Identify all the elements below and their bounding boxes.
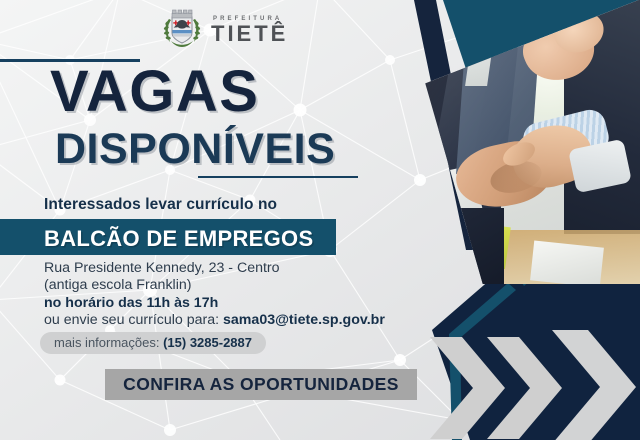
content-column: VAGAS DISPONÍVEIS Interessados levar cur…	[0, 0, 470, 440]
coat-of-arms-icon	[160, 8, 204, 52]
headline-disponiveis: DISPONÍVEIS	[55, 128, 335, 171]
address-block: Rua Presidente Kennedy, 23 - Centro (ant…	[44, 260, 385, 330]
river-band-lower	[173, 34, 191, 37]
phone-pill-label: mais informações:	[54, 335, 163, 350]
phone-number[interactable]: (15) 3285-2887	[163, 335, 252, 350]
headline-vagas: VAGAS	[50, 63, 259, 121]
headline-underline	[198, 176, 358, 178]
chevron-white-group	[552, 330, 636, 440]
prefeitura-logo: PREFEITURA TIETÊ	[160, 8, 288, 52]
river-band	[172, 30, 191, 33]
mural-crown	[172, 10, 192, 18]
address-line2: (antiga escola Franklin)	[44, 277, 385, 294]
email-address[interactable]: sama03@tiete.sp.gov.br	[223, 312, 385, 328]
opening-hours: no horário das 11h às 17h	[44, 295, 218, 311]
laurel-left	[163, 19, 171, 42]
email-prefix: ou envie seu currículo para:	[44, 312, 223, 328]
balcao-label: BALCÃO DE EMPREGOS	[44, 226, 313, 252]
cta-label: CONFIRA AS OPORTUNIDADES	[123, 374, 399, 395]
lead-text: Interessados levar currículo no	[44, 196, 277, 214]
balcao-band: BALCÃO DE EMPREGOS	[0, 219, 336, 255]
logo-city-text: TIETÊ	[211, 23, 288, 45]
phone-pill: mais informações: (15) 3285-2887	[40, 332, 266, 354]
poster-canvas: PREFEITURA TIETÊ VAGAS DISPONÍVEIS Inter…	[0, 0, 640, 440]
address-line1: Rua Presidente Kennedy, 23 - Centro	[44, 260, 385, 277]
laurel-right	[193, 19, 201, 42]
cta-button[interactable]: CONFIRA AS OPORTUNIDADES	[105, 369, 417, 400]
